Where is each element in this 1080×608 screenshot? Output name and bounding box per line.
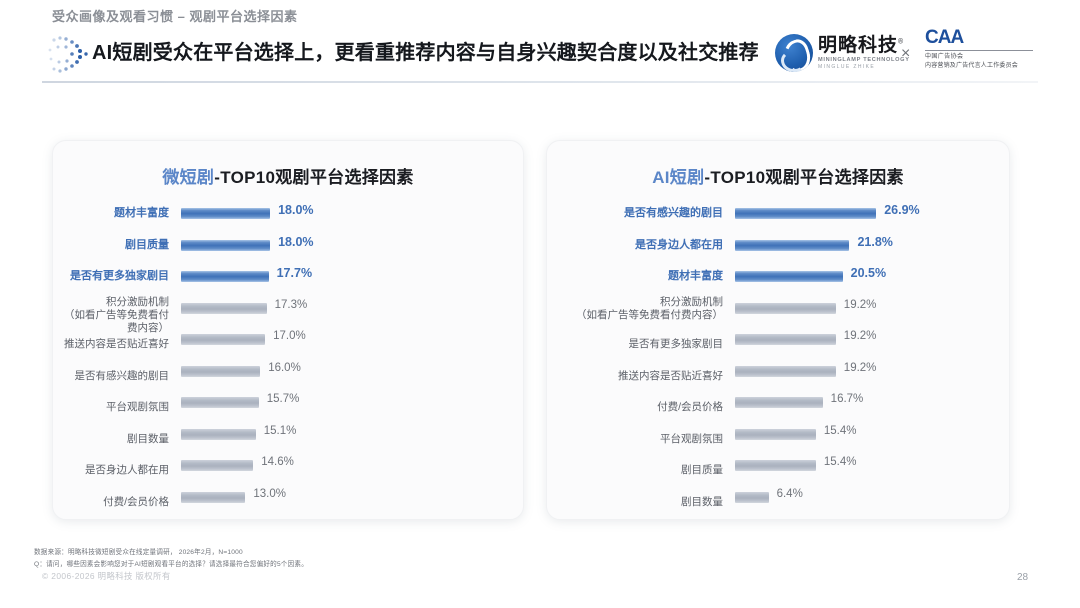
bar xyxy=(181,240,270,251)
bar-value: 19.2% xyxy=(844,330,877,342)
bar-row: 积分激励机制 （如看广告等免费看付费内容）19.2% xyxy=(547,298,1009,330)
footer-source: 数据来源：明略科技微短剧受众在线定量调研， 2026年2月，N=1000 xyxy=(34,546,243,556)
bar xyxy=(181,492,245,503)
bar-label: 剧目数量 xyxy=(553,496,723,509)
bar xyxy=(181,397,259,408)
caa-logo: CAA 中国广告协会 内容营销及广告代言人工作委员会 xyxy=(925,28,1045,71)
bar-row: 题材丰富度20.5% xyxy=(547,266,1009,298)
chart-card-ai-drama: AI短剧-TOP10观剧平台选择因素 是否有感兴趣的剧目26.9%是否身边人都在… xyxy=(546,140,1010,520)
dotted-swoosh-icon xyxy=(44,30,98,80)
bar-label: 是否身边人都在用 xyxy=(553,239,723,253)
bar xyxy=(181,303,267,314)
bar-label: 付费/会员价格 xyxy=(59,496,169,509)
bar-row: 是否有更多独家剧目19.2% xyxy=(547,329,1009,361)
bar-value: 15.4% xyxy=(824,456,857,468)
bar-label: 推送内容是否贴近喜好 xyxy=(59,338,169,351)
bar-value: 17.7% xyxy=(277,266,312,280)
caa-line-2: 内容营销及广告代言人工作委员会 xyxy=(925,62,1045,71)
bar-row: 平台观剧氛围15.7% xyxy=(53,392,523,424)
bar xyxy=(735,429,816,440)
bar xyxy=(735,208,876,219)
bar xyxy=(735,460,816,471)
bar-value: 15.4% xyxy=(824,425,857,437)
chart-title: 微短剧-TOP10观剧平台选择因素 xyxy=(53,163,523,188)
bar-rows: 是否有感兴趣的剧目26.9%是否身边人都在用21.8%题材丰富度20.5%积分激… xyxy=(547,203,1009,518)
bar-value: 17.3% xyxy=(275,299,308,311)
caa-line-1: 中国广告协会 xyxy=(925,53,1045,62)
bar-label: 题材丰富度 xyxy=(59,207,169,221)
bar-label: 是否有感兴趣的剧目 xyxy=(59,370,169,383)
minglue-logo-cn: 明略科技 xyxy=(818,35,898,56)
bar-row: 是否有感兴趣的剧目26.9% xyxy=(547,203,1009,235)
bar-row: 题材丰富度18.0% xyxy=(53,203,523,235)
bar-label: 是否有更多独家剧目 xyxy=(59,270,169,284)
bar-label: 剧目质量 xyxy=(553,464,723,477)
bar-row: 剧目质量18.0% xyxy=(53,235,523,267)
bar-label: 推送内容是否贴近喜好 xyxy=(553,370,723,383)
header-divider xyxy=(42,81,1038,83)
minglue-globe-icon xyxy=(775,34,813,72)
bar-row: 是否身边人都在用14.6% xyxy=(53,455,523,487)
bar-value: 26.9% xyxy=(884,203,919,217)
breadcrumb-kicker: 受众画像及观看习惯 – 观剧平台选择因素 xyxy=(52,6,297,25)
bar-value: 16.7% xyxy=(831,393,864,405)
bar xyxy=(181,366,260,377)
bar-label: 付费/会员价格 xyxy=(553,401,723,414)
chart-title: AI短剧-TOP10观剧平台选择因素 xyxy=(547,163,1009,188)
bar-value: 15.7% xyxy=(267,393,300,405)
bar-row: 推送内容是否贴近喜好19.2% xyxy=(547,361,1009,393)
bar-row: 积分激励机制 （如看广告等免费看付费内容）17.3% xyxy=(53,298,523,330)
bar-value: 20.5% xyxy=(851,266,886,280)
bar-label: 剧目数量 xyxy=(59,433,169,446)
footer-question: Q：请问，哪些因素会影响您对于AI短剧观看平台的选择？请选择最符合您偏好的5个因… xyxy=(34,558,308,568)
bar-label: 题材丰富度 xyxy=(553,270,723,284)
bar-row: 剧目质量15.4% xyxy=(547,455,1009,487)
bar-row: 付费/会员价格16.7% xyxy=(547,392,1009,424)
page-title: AI短剧受众在平台选择上，更看重推荐内容与自身兴趣契合度以及社交推荐 xyxy=(92,36,759,65)
bar-row: 剧目数量15.1% xyxy=(53,424,523,456)
chart-card-micro-drama: 微短剧-TOP10观剧平台选择因素 题材丰富度18.0%剧目质量18.0%是否有… xyxy=(52,140,524,520)
caa-divider xyxy=(925,50,1033,51)
chart-title-highlight: 微短剧 xyxy=(162,168,214,187)
bar xyxy=(735,271,843,282)
bar xyxy=(181,271,269,282)
minglue-logo: 明略科技® MININGLAMP TECHNOLOGY MINGLUE ZHIK… xyxy=(775,30,910,76)
chart-title-rest: -TOP10观剧平台选择因素 xyxy=(214,168,413,187)
bar-value: 21.8% xyxy=(857,235,892,249)
minglue-logo-en: MININGLAMP TECHNOLOGY xyxy=(818,58,910,64)
chart-title-rest: -TOP10观剧平台选择因素 xyxy=(704,168,903,187)
bar-label: 积分激励机制 （如看广告等免费看付费内容） xyxy=(553,296,723,322)
bar-row: 推送内容是否贴近喜好17.0% xyxy=(53,329,523,361)
bar-value: 14.6% xyxy=(261,456,294,468)
bar-row: 剧目数量6.4% xyxy=(547,487,1009,519)
bar xyxy=(735,303,836,314)
bar-value: 16.0% xyxy=(268,362,301,374)
bar-label: 平台观剧氛围 xyxy=(59,401,169,414)
bar-row: 平台观剧氛围15.4% xyxy=(547,424,1009,456)
bar xyxy=(735,240,849,251)
bar-value: 17.0% xyxy=(273,330,306,342)
bar xyxy=(735,366,836,377)
minglue-logo-en2: MINGLUE ZHIKE xyxy=(818,65,910,70)
bar-value: 18.0% xyxy=(278,203,313,217)
bar-value: 19.2% xyxy=(844,299,877,311)
bar xyxy=(181,208,270,219)
bar-row: 是否身边人都在用21.8% xyxy=(547,235,1009,267)
bar xyxy=(181,429,256,440)
bar xyxy=(735,492,769,503)
bar-value: 13.0% xyxy=(253,488,286,500)
bar-label: 是否有感兴趣的剧目 xyxy=(553,207,723,221)
bar-value: 18.0% xyxy=(278,235,313,249)
chart-title-highlight: AI短剧 xyxy=(652,168,704,187)
page-number: 28 xyxy=(1017,572,1028,583)
bar-value: 19.2% xyxy=(844,362,877,374)
bar-value: 6.4% xyxy=(777,488,803,500)
bar xyxy=(735,397,823,408)
bar-row: 是否有感兴趣的剧目16.0% xyxy=(53,361,523,393)
bar xyxy=(181,334,265,345)
caa-wordmark: CAA xyxy=(925,28,1045,47)
bar xyxy=(735,334,836,345)
bar-rows: 题材丰富度18.0%剧目质量18.0%是否有更多独家剧目17.7%积分激励机制 … xyxy=(53,203,523,518)
bar-label: 剧目质量 xyxy=(59,239,169,253)
bar-row: 是否有更多独家剧目17.7% xyxy=(53,266,523,298)
bar xyxy=(181,460,253,471)
footer-copyright: © 2006-2026 明略科技 版权所有 xyxy=(42,570,171,582)
bar-label: 是否有更多独家剧目 xyxy=(553,338,723,351)
bar-label: 平台观剧氛围 xyxy=(553,433,723,446)
bar-label: 是否身边人都在用 xyxy=(59,464,169,477)
bar-row: 付费/会员价格13.0% xyxy=(53,487,523,519)
bar-value: 15.1% xyxy=(264,425,297,437)
logo-separator: × xyxy=(901,45,910,63)
